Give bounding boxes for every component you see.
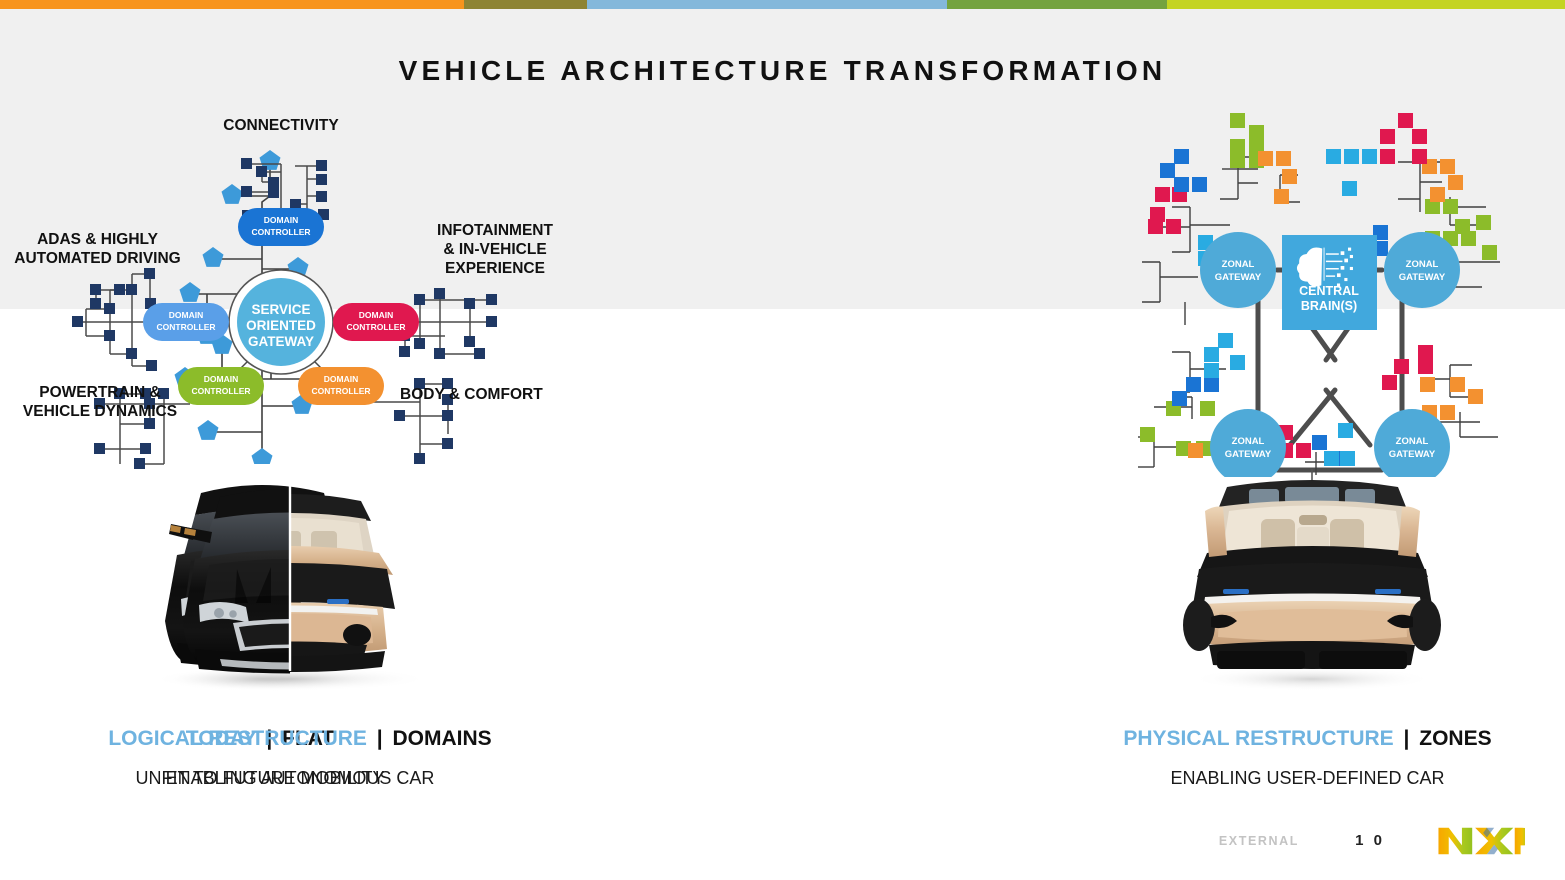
caption-heading: PHYSICAL RESTRUCTURE | ZONES <box>1050 727 1565 751</box>
caption-logical-domains: LOGICAL RESTRUCTURE | DOMAINS ENABLING A… <box>0 727 600 789</box>
dc-label-line-1: DOMAIN <box>204 374 238 384</box>
domain-controller-body-comfort[interactable]: DOMAIN CONTROLLER <box>298 367 384 405</box>
caption-primary: LOGICAL RESTRUCTURE <box>108 727 367 750</box>
caption-separator: | <box>1400 727 1414 750</box>
dc-label-line-1: DOMAIN <box>359 310 393 320</box>
topbar-segment-medium-green <box>947 0 1167 9</box>
domain-controller-adas[interactable]: DOMAIN CONTROLLER <box>143 303 229 341</box>
gateway-line-1: ZONAL <box>1232 436 1265 447</box>
topbar-segment-orange <box>0 0 464 9</box>
gateway-line-1: ZONAL <box>1396 436 1429 447</box>
topbar-segment-light-blue <box>587 0 947 9</box>
caption-secondary: ZONES <box>1419 727 1491 750</box>
gateway-line-1: ZONAL <box>1222 259 1255 270</box>
sog-line-2: ORIENTED <box>246 318 316 333</box>
zonal-gateway-top-left[interactable]: ZONAL GATEWAY <box>1200 232 1276 308</box>
caption-subtitle: ENABLING AUTONOMOUS CAR <box>0 768 600 789</box>
caption-subtitle: ENABLING USER-DEFINED CAR <box>1050 768 1565 789</box>
zonal-network-diagram: CENTRAL BRAIN(S) ZONAL GATEWAY ZONAL GAT… <box>1130 107 1530 477</box>
nxp-logo <box>1437 824 1525 858</box>
dc-label-line-1: DOMAIN <box>169 310 203 320</box>
caption-primary: PHYSICAL RESTRUCTURE <box>1123 727 1393 750</box>
dc-label-line-2: CONTROLLER <box>251 227 310 237</box>
caption-separator: | <box>373 727 387 750</box>
gateway-line-2: GATEWAY <box>1399 272 1446 283</box>
page-number: 1 0 <box>1355 832 1385 849</box>
domain-controller-connectivity[interactable]: DOMAIN CONTROLLER <box>238 208 324 246</box>
dc-label-line-2: CONTROLLER <box>311 386 370 396</box>
topbar-segment-yellow-green <box>1167 0 1565 9</box>
sog-line-1: SERVICE <box>251 302 310 317</box>
dc-label-line-2: CONTROLLER <box>156 322 215 332</box>
caption-heading: LOGICAL RESTRUCTURE | DOMAINS <box>0 727 600 751</box>
gateway-line-1: ZONAL <box>1406 259 1439 270</box>
column-physical-zones: CENTRAL BRAIN(S) ZONAL GATEWAY ZONAL GAT… <box>1050 9 1565 880</box>
car-split-sedan-concept <box>125 457 455 692</box>
domain-label-adas: ADAS & HIGHLY AUTOMATED DRIVING <box>5 231 190 269</box>
topbar-segment-olive-gold <box>464 0 587 9</box>
dc-label-line-1: DOMAIN <box>324 374 358 384</box>
central-brain-line-2: BRAIN(S) <box>1301 299 1357 313</box>
dc-label-line-2: CONTROLLER <box>191 386 250 396</box>
domain-label-infotainment: INFOTAINMENT & IN-VEHICLE EXPERIENCE <box>395 222 595 279</box>
central-brain-node <box>1282 235 1377 330</box>
top-color-bar <box>0 0 1565 9</box>
slide-root: VEHICLE ARCHITECTURE TRANSFORMATION <box>0 0 1565 880</box>
gateway-line-2: GATEWAY <box>1215 272 1262 283</box>
domain-label-body-comfort: BODY & COMFORT <box>400 386 590 404</box>
domain-label-connectivity: CONNECTIVITY <box>181 117 381 135</box>
dc-label-line-1: DOMAIN <box>264 215 298 225</box>
zonal-gateway-top-right[interactable]: ZONAL GATEWAY <box>1384 232 1460 308</box>
column-logical-domains: SERVICE ORIENTED GATEWAY DOMAIN CONTROLL… <box>0 9 600 880</box>
classification-label: EXTERNAL <box>1219 834 1299 848</box>
car-concept-autonomous <box>1175 457 1450 692</box>
domain-label-powertrain: POWERTRAIN & VEHICLE DYNAMICS <box>5 384 195 422</box>
caption-physical-zones: PHYSICAL RESTRUCTURE | ZONES ENABLING US… <box>1050 727 1565 789</box>
central-brain-line-1: CENTRAL <box>1299 284 1359 298</box>
dc-label-line-2: CONTROLLER <box>346 322 405 332</box>
sog-line-3: GATEWAY <box>248 334 314 349</box>
slide-footer: EXTERNAL 1 0 <box>0 822 1565 862</box>
caption-secondary: DOMAINS <box>393 727 492 750</box>
domain-controller-infotainment[interactable]: DOMAIN CONTROLLER <box>333 303 419 341</box>
